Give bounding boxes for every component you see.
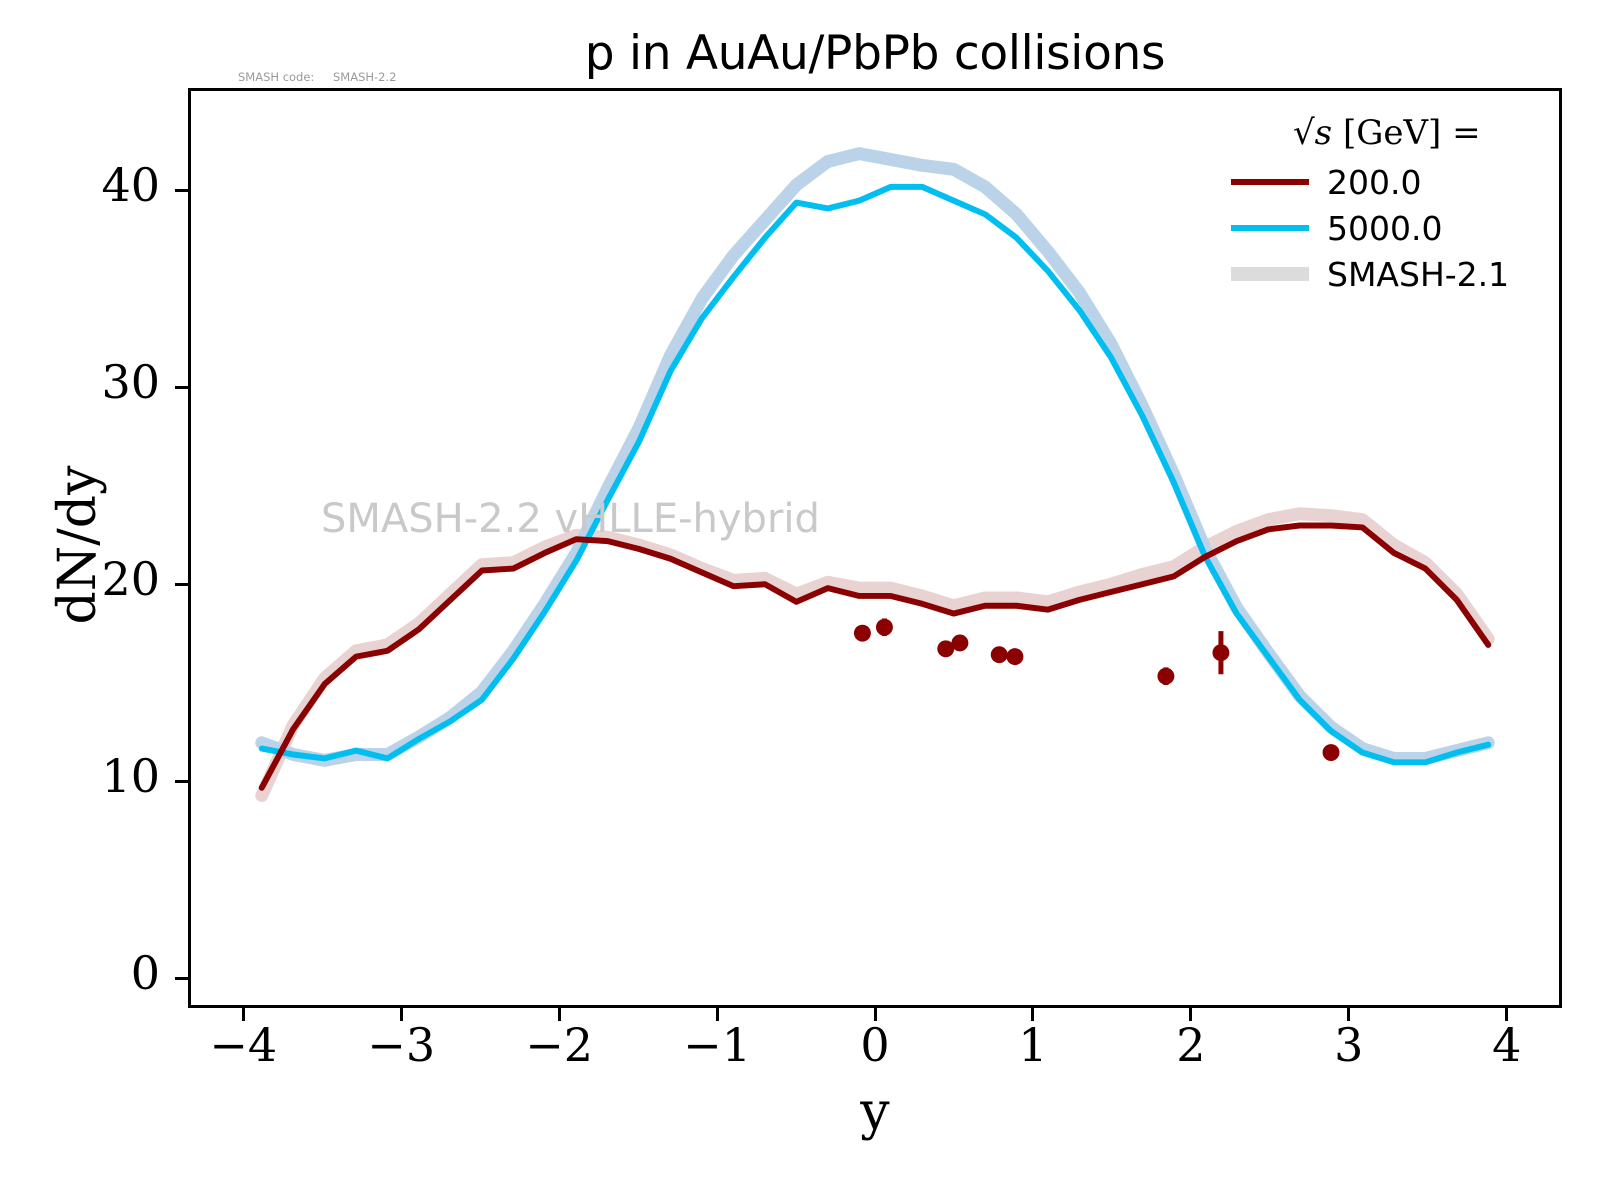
y-tick-2 [175,583,188,586]
y-ticklabel-4: 40 [10,158,160,212]
legend-title: √s [GeV] = [1231,113,1531,153]
legend-label-5000: 5000.0 [1327,209,1442,248]
legend-item-smash21[interactable]: SMASH-2.1 [1231,251,1531,297]
legend-swatch-smash21 [1231,267,1309,281]
y-tick-0 [175,977,188,980]
y-axis-label: dN/dy [48,395,108,695]
y-ticklabel-1: 10 [10,749,160,803]
series-band-smash21-200 [262,514,1488,796]
data-point-marker[interactable] [951,634,968,651]
y-tick-4 [175,189,188,192]
data-point-marker[interactable] [876,619,893,636]
x-ticklabel-2: −2 [499,1018,619,1072]
legend-title-suffix: [GeV] = [1343,113,1481,153]
x-ticklabel-0: −4 [183,1018,303,1072]
x-ticklabel-5: 1 [973,1018,1093,1072]
x-ticklabel-8: 4 [1447,1018,1567,1072]
y-tick-3 [175,386,188,389]
y-tick-1 [175,780,188,783]
legend-label-200: 200.0 [1327,163,1421,202]
x-ticklabel-4: 0 [815,1018,935,1072]
plot-area: SMASH-2.2 vHLLE-hybrid √s [GeV] = 200.0 … [188,88,1562,1008]
y-ticklabel-0: 0 [10,946,160,1000]
legend-item-5000[interactable]: 5000.0 [1231,205,1531,251]
legend-label-smash21: SMASH-2.1 [1327,255,1509,294]
data-point-marker[interactable] [1212,644,1229,661]
chart-page: SMASH code:SMASH-2.2 SMASH analysis:SMAS… [0,0,1600,1200]
x-axis-label: y [188,1082,1562,1142]
data-point-marker[interactable] [1157,668,1174,685]
data-point-marker[interactable] [1006,648,1023,665]
data-point-marker[interactable] [1323,744,1340,761]
legend-swatch-200 [1231,179,1309,185]
x-ticklabel-6: 2 [1131,1018,1251,1072]
page-title: p in AuAu/PbPb collisions [188,26,1562,81]
legend: √s [GeV] = 200.0 5000.0 SMASH-2.1 [1231,113,1531,297]
data-point-marker[interactable] [854,625,871,642]
legend-item-200[interactable]: 200.0 [1231,159,1531,205]
data-point-marker[interactable] [991,646,1008,663]
legend-sqrt-s: √s [1293,113,1332,153]
x-ticklabel-7: 3 [1289,1018,1409,1072]
series-line-200 [262,525,1488,787]
legend-swatch-5000 [1231,225,1309,231]
x-ticklabel-3: −1 [657,1018,777,1072]
x-ticklabel-1: −3 [341,1018,461,1072]
